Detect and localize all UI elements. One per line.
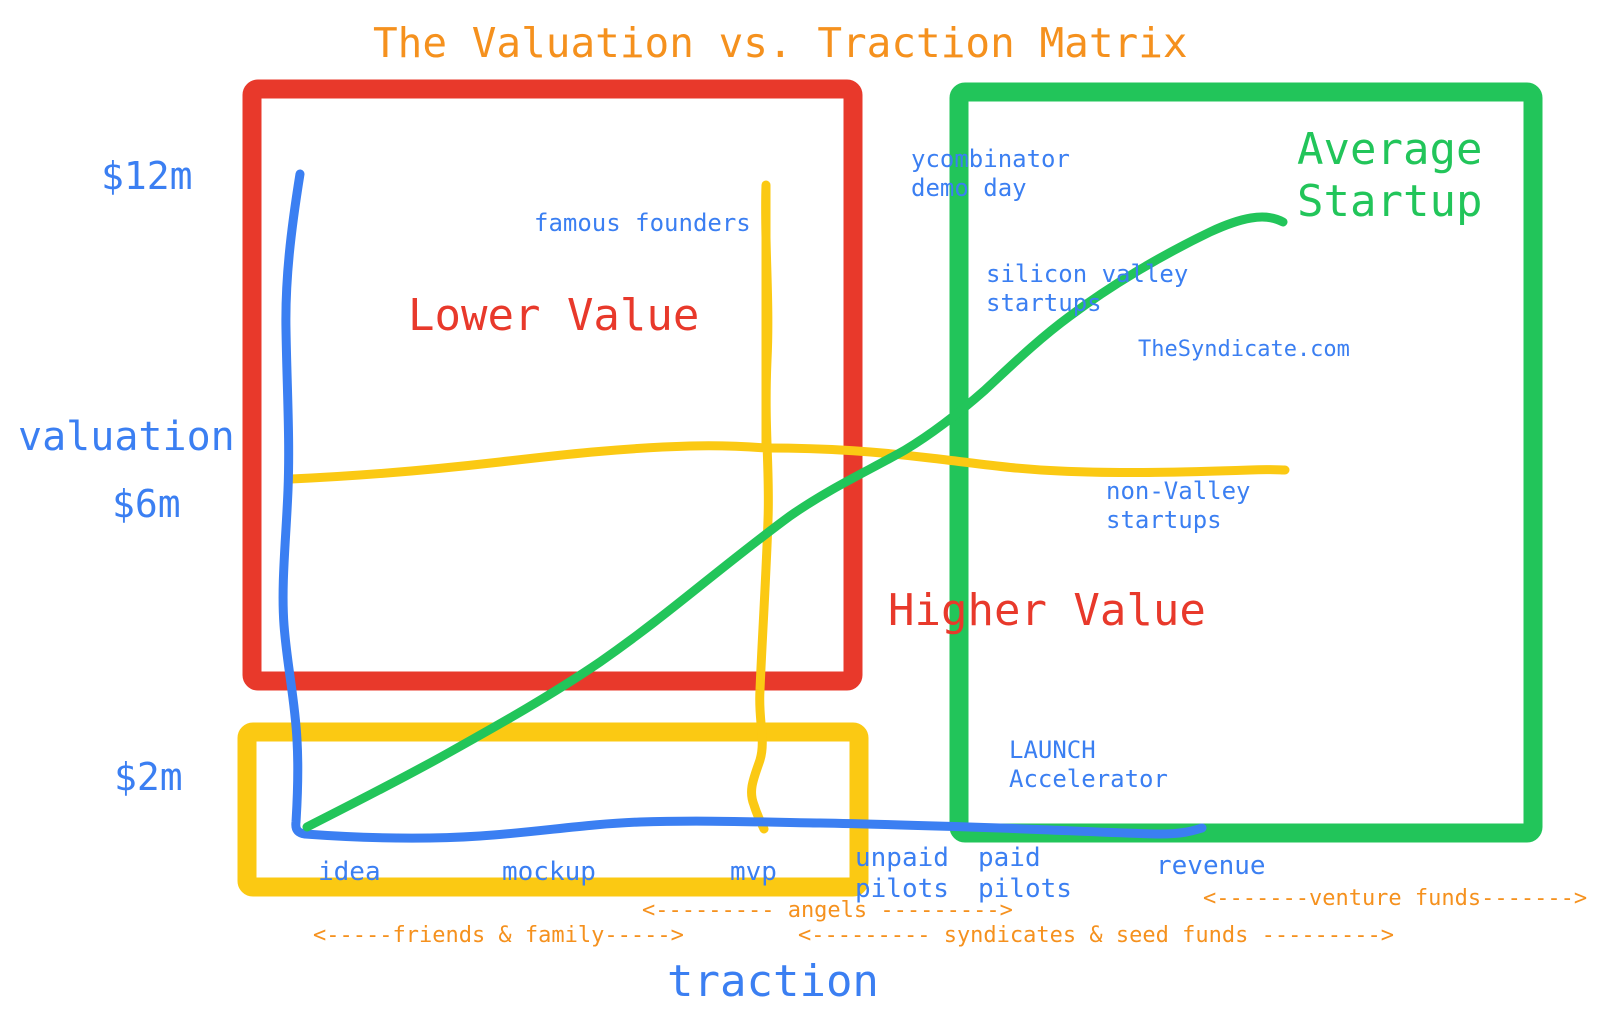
chart-title: The Valuation vs. Traction Matrix <box>373 21 1188 67</box>
x-tick-paid-pilots: paid pilots <box>978 843 1072 905</box>
funding-band-syndicates-seed: <--------- syndicates & seed funds -----… <box>798 924 1394 949</box>
y-tick-12m: $12m <box>101 155 193 198</box>
region-label-average-startup: Average Startup <box>1297 124 1482 228</box>
x-axis-title: traction <box>667 957 879 1006</box>
annotation-ycombinator-demo-day: ycombinator demo day <box>911 145 1070 203</box>
y-axis-title: valuation <box>18 415 235 460</box>
annotation-silicon-valley-startups: silicon valley startups <box>986 260 1188 318</box>
annotation-launch-accelerator: LAUNCH Accelerator <box>1009 736 1168 794</box>
funding-band-venture-funds: <-------venture funds-------> <box>1203 887 1587 912</box>
x-tick-revenue: revenue <box>1156 851 1266 882</box>
funding-band-angels: <--------- angels ---------> <box>642 899 1013 924</box>
y-tick-2m: $2m <box>114 756 183 799</box>
funding-band-friends-family: <-----friends & family-----> <box>313 924 684 949</box>
region-label-lower-value: Lower Value <box>408 291 699 340</box>
y-tick-6m: $6m <box>112 483 181 526</box>
region-label-higher-value: Higher Value <box>888 586 1206 635</box>
chart-canvas: The Valuation vs. Traction Matrix $12m v… <box>0 0 1600 1028</box>
annotation-famous-founders: famous founders <box>534 209 751 238</box>
annotation-thesyndicate-com: TheSyndicate.com <box>1138 337 1350 363</box>
x-tick-mvp: mvp <box>730 857 777 888</box>
x-tick-mockup: mockup <box>502 857 596 888</box>
annotation-non-valley-startups: non-Valley startups <box>1106 477 1251 535</box>
x-tick-idea: idea <box>318 857 381 888</box>
x-tick-unpaid-pilots: unpaid pilots <box>855 843 949 905</box>
